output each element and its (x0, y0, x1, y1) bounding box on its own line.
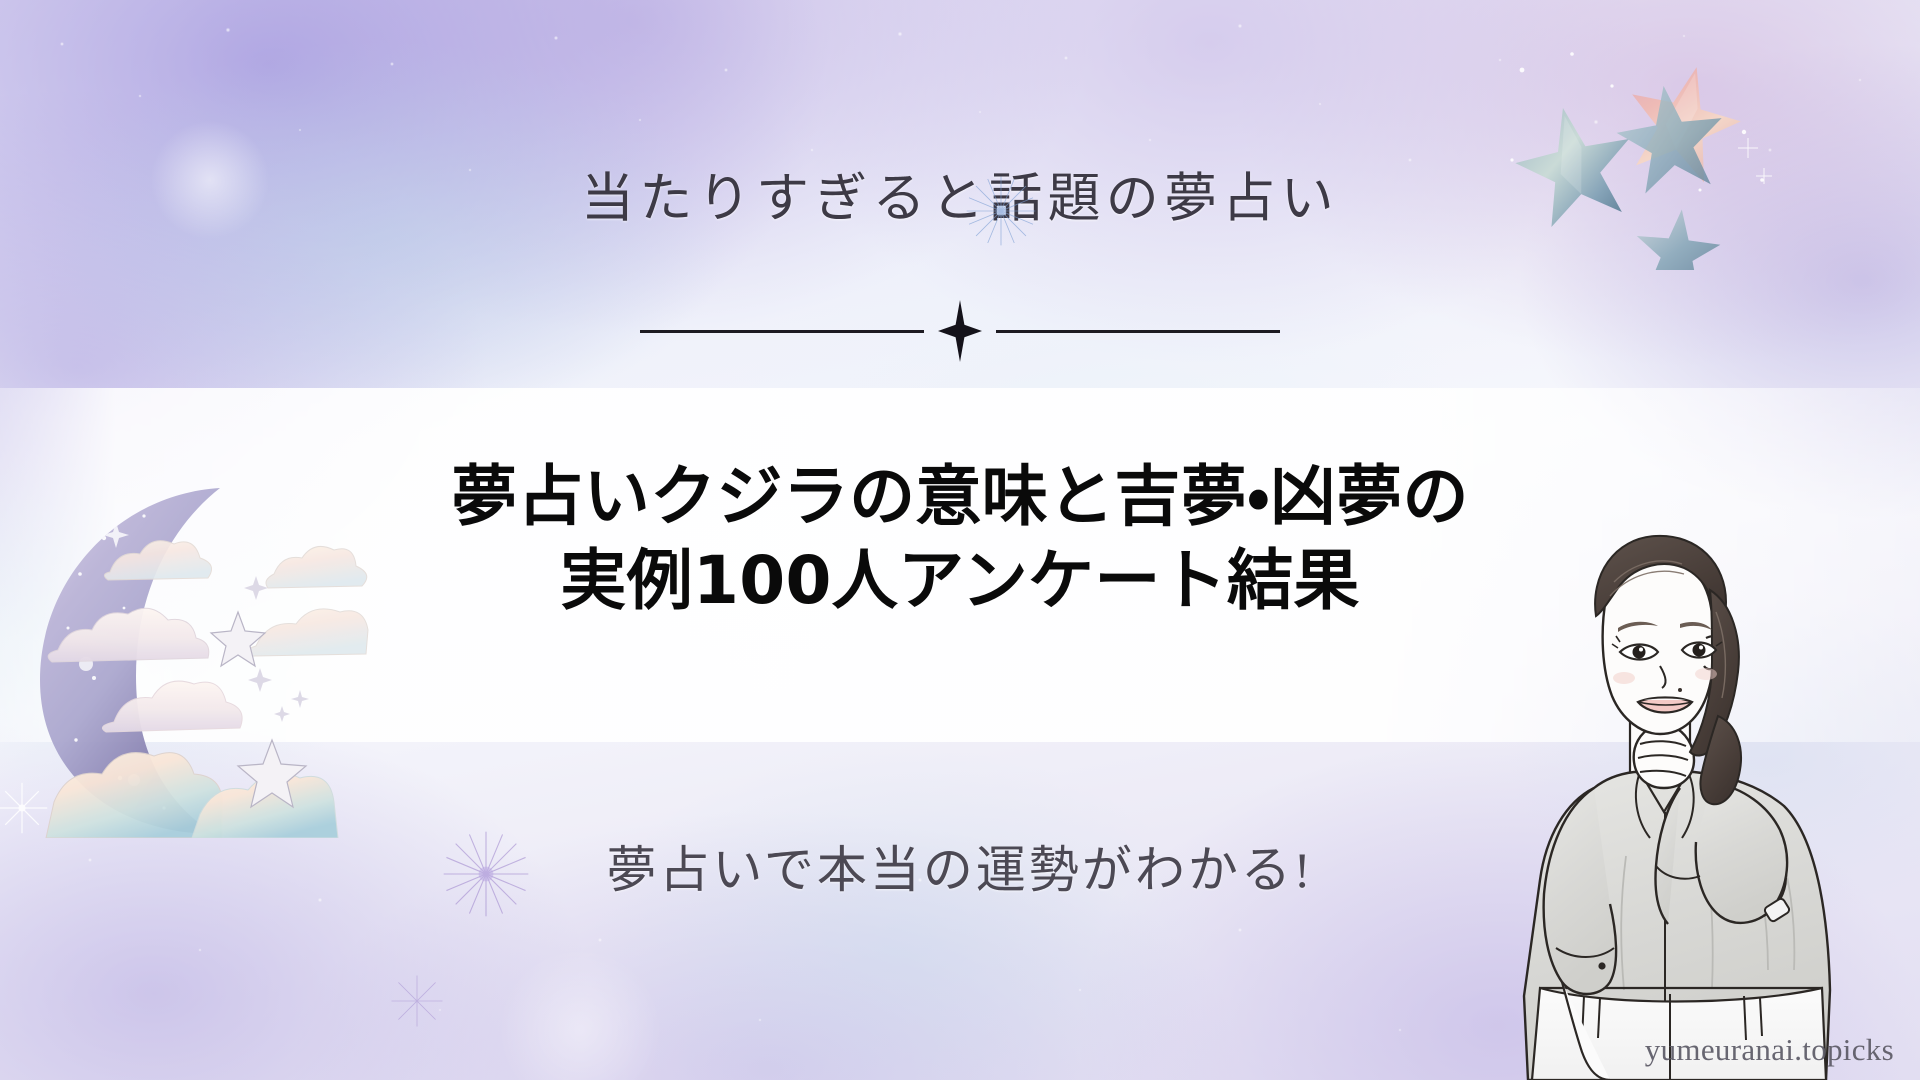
ornamental-divider (0, 300, 1920, 362)
sparkle-burst-violet-bottom-left (388, 972, 446, 1030)
site-watermark: yumeuranai.topicks (1645, 1032, 1894, 1068)
watercolor-stars-illustration (1500, 40, 1780, 270)
woman-hand (1634, 726, 1694, 788)
star-teal-left (1506, 96, 1643, 232)
divider-rule-left (640, 330, 924, 333)
sparkle-burst-white-left-edge (0, 778, 52, 838)
four-point-sparkle-icon (938, 300, 982, 362)
star-twinkle-sparks (1738, 138, 1772, 184)
star-teal-bottom (1632, 205, 1724, 270)
sparkle-burst-blue-top (962, 172, 1040, 250)
eyecatch-canvas: 当たりすぎると話題の夢占い (0, 0, 1920, 1080)
divider-rule-right (996, 330, 1280, 333)
star-teal-center (1611, 79, 1730, 197)
woman-thinking-illustration (1444, 520, 1914, 1080)
